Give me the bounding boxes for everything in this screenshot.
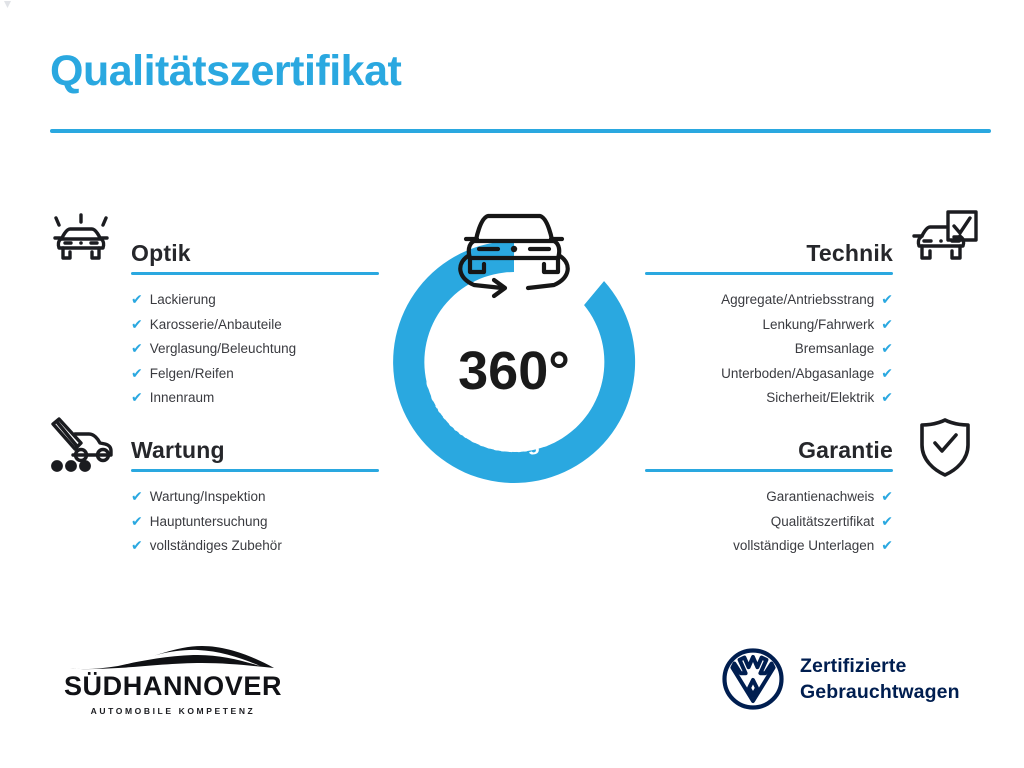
check-icon: ✔ — [131, 535, 143, 559]
check-icon: ✔ — [131, 387, 143, 411]
check-icon: ✔ — [131, 486, 143, 510]
brand-logo-line2: Gebrauchtwagen — [800, 679, 960, 705]
brand-logo-text: Zertifizierte Gebrauchtwagen — [800, 653, 960, 705]
list-item-label: vollständiges Zubehör — [150, 534, 282, 558]
car-rotate-360-icon — [460, 216, 567, 296]
list-item: ✔Verglasung/Beleuchtung — [131, 337, 379, 362]
list-item-label: Felgen/Reifen — [150, 362, 234, 386]
list-item-label: Unterboden/Abgasanlage — [721, 362, 874, 386]
section-title: Technik — [806, 240, 893, 267]
volkswagen-logo-icon — [722, 648, 784, 710]
section-optik: Optik ✔Lackierung ✔Karosserie/Anbauteile… — [131, 233, 379, 411]
check-icon: ✔ — [881, 289, 893, 313]
dealer-logo: SÜDHANNOVER AUTOMOBILE KOMPETENZ — [48, 640, 298, 732]
list-item: Lenkung/Fahrwerk✔ — [645, 313, 893, 338]
section-technik: Technik Aggregate/Antriebsstrang✔ Lenkun… — [645, 233, 893, 411]
check-icon: ✔ — [131, 314, 143, 338]
section-wartung: Wartung ✔Wartung/Inspektion ✔Hauptunters… — [131, 430, 379, 559]
list-item: Aggregate/Antriebsstrang✔ — [645, 288, 893, 313]
section-header: Garantie — [645, 430, 893, 472]
list-item: ✔Karosserie/Anbauteile — [131, 313, 379, 338]
check-icon: ✔ — [881, 535, 893, 559]
checklist-wartung: ✔Wartung/Inspektion ✔Hauptuntersuchung ✔… — [131, 485, 379, 559]
list-item: Unterboden/Abgasanlage✔ — [645, 362, 893, 387]
list-item-label: Karosserie/Anbauteile — [150, 313, 282, 337]
check-icon: ✔ — [131, 363, 143, 387]
list-item: Qualitätszertifikat✔ — [645, 510, 893, 535]
section-divider — [131, 469, 379, 472]
list-item: ✔Felgen/Reifen — [131, 362, 379, 387]
list-item-label: Lackierung — [150, 288, 216, 312]
list-item-label: Verglasung/Beleuchtung — [150, 337, 296, 361]
check-icon: ✔ — [131, 511, 143, 535]
wrench-car-icon — [45, 414, 117, 485]
list-item: ✔Lackierung — [131, 288, 379, 313]
section-title: Wartung — [131, 437, 225, 464]
section-title: Optik — [131, 240, 191, 267]
dealer-name: SÜDHANNOVER — [48, 671, 298, 702]
dealer-tagline: AUTOMOBILE KOMPETENZ — [48, 706, 298, 716]
check-icon: ✔ — [881, 511, 893, 535]
page-title: Qualitätszertifikat — [50, 48, 401, 95]
list-item-label: Hauptuntersuchung — [150, 510, 268, 534]
checklist-technik: Aggregate/Antriebsstrang✔ Lenkung/Fahrwe… — [645, 288, 893, 411]
section-divider — [645, 272, 893, 275]
section-divider — [131, 272, 379, 275]
car-checkbox-icon — [908, 203, 980, 280]
list-item: Bremsanlage✔ — [645, 337, 893, 362]
check-icon: ✔ — [881, 314, 893, 338]
list-item: ✔Innenraum — [131, 386, 379, 411]
checklist-optik: ✔Lackierung ✔Karosserie/Anbauteile ✔Verg… — [131, 288, 379, 411]
list-item-label: Wartung/Inspektion — [150, 485, 266, 509]
list-item: Garantienachweis✔ — [645, 485, 893, 510]
checklist-garantie: Garantienachweis✔ Qualitätszertifikat✔ v… — [645, 485, 893, 559]
list-item: vollständige Unterlagen✔ — [645, 534, 893, 559]
section-garantie: Garantie Garantienachweis✔ Qualitätszert… — [645, 430, 893, 559]
list-item-label: Bremsanlage — [795, 337, 875, 361]
check-icon: ✔ — [881, 486, 893, 510]
quality-certificate-page: Qualitätszertifikat — [0, 0, 1024, 768]
shield-check-icon — [914, 414, 976, 485]
badge-center-label: 360° — [458, 341, 570, 401]
list-item: ✔Wartung/Inspektion — [131, 485, 379, 510]
car-front-shine-icon — [45, 203, 117, 280]
list-item: Sicherheit/Elektrik✔ — [645, 386, 893, 411]
check-icon: ✔ — [881, 363, 893, 387]
brand-logo-line1: Zertifizierte — [800, 653, 960, 679]
check-icon: ✔ — [131, 338, 143, 362]
section-divider — [645, 469, 893, 472]
list-item-label: Aggregate/Antriebsstrang — [721, 288, 874, 312]
check-icon: ✔ — [131, 289, 143, 313]
list-item: ✔Hauptuntersuchung — [131, 510, 379, 535]
title-divider — [50, 129, 991, 133]
list-item-label: Garantienachweis — [766, 485, 874, 509]
list-item-label: Innenraum — [150, 386, 215, 410]
section-header: Wartung — [131, 430, 379, 472]
brand-logo: Zertifizierte Gebrauchtwagen — [722, 648, 960, 710]
section-header: Technik — [645, 233, 893, 275]
list-item-label: vollständige Unterlagen — [733, 534, 874, 558]
corner-artifact — [4, 1, 11, 8]
check-icon: ✔ — [881, 387, 893, 411]
check-icon: ✔ — [881, 338, 893, 362]
list-item-label: Qualitätszertifikat — [771, 510, 875, 534]
list-item: ✔vollständiges Zubehör — [131, 534, 379, 559]
section-title: Garantie — [798, 437, 893, 464]
list-item-label: Sicherheit/Elektrik — [766, 386, 874, 410]
section-header: Optik — [131, 233, 379, 275]
badge-360-gebrauchtwagen-check: 360° Gebrauchtwagen-Check — [378, 192, 650, 492]
list-item-label: Lenkung/Fahrwerk — [762, 313, 874, 337]
